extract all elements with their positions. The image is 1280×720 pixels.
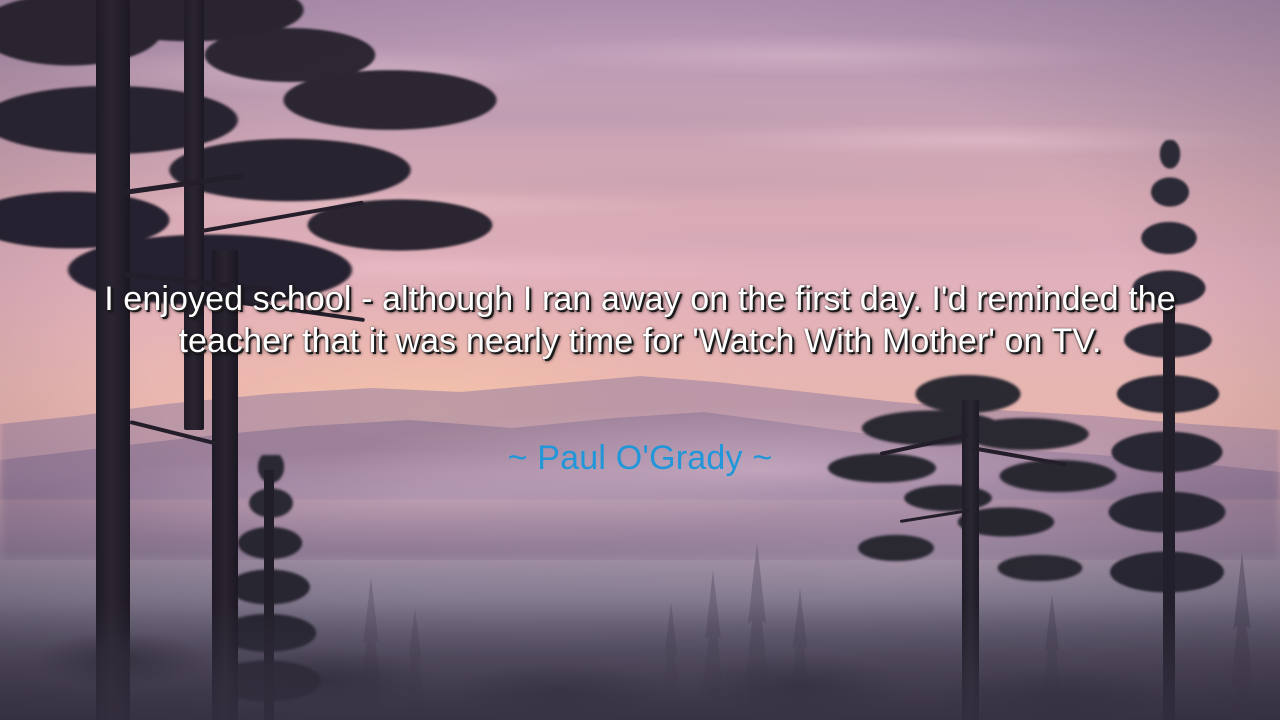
quote-block: I enjoyed school - although I ran away o… bbox=[0, 278, 1280, 362]
quote-text: I enjoyed school - although I ran away o… bbox=[56, 278, 1224, 362]
quote-attribution: ~ Paul O'Grady ~ bbox=[0, 437, 1280, 479]
quote-image-canvas: I enjoyed school - although I ran away o… bbox=[0, 0, 1280, 720]
